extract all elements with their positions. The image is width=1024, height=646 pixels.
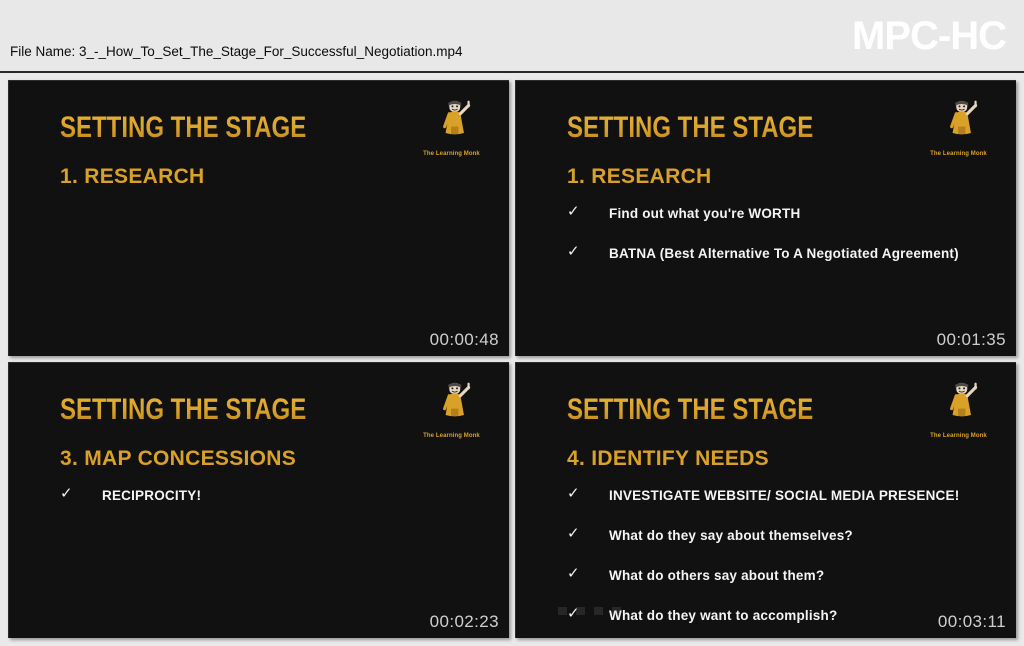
slide-bullet-item: ✓What do others say about them? (567, 567, 1001, 585)
video-thumbnail-1[interactable]: SETTING THE STAGE 1. RESEARCH The Learni… (8, 80, 509, 356)
file-name-label: File Name: 3_-_How_To_Set_The_Stage_For_… (10, 43, 463, 61)
slide-subtitle: 3. MAP CONCESSIONS (60, 447, 296, 471)
slide-bullet-list: ✓Find out what you're WORTH✓BATNA (Best … (567, 205, 1001, 285)
slide-subtitle: 1. RESEARCH (60, 165, 205, 189)
slide-bullet-item: ✓What do they say about themselves? (567, 527, 1001, 545)
slide-bullet-item: ✓RECIPROCITY! (60, 487, 494, 505)
app-logo-text: MPC-HC (852, 14, 1006, 59)
logo-caption: The Learning Monk (929, 433, 989, 439)
slide-bullet-item: ✓BATNA (Best Alternative To A Negotiated… (567, 245, 1001, 263)
file-info-header: File Name: 3_-_How_To_Set_The_Stage_For_… (0, 0, 1024, 73)
thumbnail-timestamp: 00:01:35 (937, 330, 1006, 350)
slide-bullet-item: ✓Find out what you're WORTH (567, 205, 1001, 223)
check-icon: ✓ (567, 244, 580, 260)
play-icon[interactable] (576, 607, 585, 615)
slide-title: SETTING THE STAGE (60, 111, 306, 145)
slide-title: SETTING THE STAGE (60, 393, 306, 427)
slide-bullet-item: ✓INVESTIGATE WEBSITE/ SOCIAL MEDIA PRESE… (567, 487, 1001, 505)
previous-icon[interactable] (558, 607, 567, 615)
check-icon: ✓ (567, 486, 580, 502)
logo-caption: The Learning Monk (929, 151, 989, 157)
stop-icon[interactable] (594, 607, 603, 615)
check-icon: ✓ (567, 526, 580, 542)
slide-bullet-list: ✓RECIPROCITY! (60, 487, 494, 527)
video-thumbnail-2[interactable]: SETTING THE STAGE 1. RESEARCH ✓Find out … (515, 80, 1016, 356)
video-thumbnail-4[interactable]: SETTING THE STAGE 4. IDENTIFY NEEDS ✓INV… (515, 362, 1016, 638)
slide-title: SETTING THE STAGE (567, 111, 813, 145)
slide-bullet-label: What do they want to accomplish? (609, 608, 837, 624)
slide-bullet-label: What do others say about them? (609, 568, 824, 584)
slide-bullet-label: BATNA (Best Alternative To A Negotiated … (609, 246, 959, 262)
slide-subtitle: 1. RESEARCH (567, 165, 712, 189)
monk-raised-hand-icon: The Learning Monk (422, 99, 482, 157)
slide-bullet-label: RECIPROCITY! (102, 488, 201, 504)
logo-caption: The Learning Monk (422, 151, 482, 157)
monk-raised-hand-icon: The Learning Monk (929, 381, 989, 439)
check-icon: ✓ (567, 566, 580, 582)
video-thumbnail-3[interactable]: SETTING THE STAGE 3. MAP CONCESSIONS ✓RE… (8, 362, 509, 638)
thumbnail-timestamp: 00:03:11 (938, 612, 1006, 632)
monk-raised-hand-icon: The Learning Monk (422, 381, 482, 439)
slide-title: SETTING THE STAGE (567, 393, 813, 427)
monk-raised-hand-icon: The Learning Monk (929, 99, 989, 157)
next-icon[interactable] (612, 607, 621, 615)
slide-bullet-label: INVESTIGATE WEBSITE/ SOCIAL MEDIA PRESEN… (609, 488, 959, 504)
thumbnail-timestamp: 00:00:48 (430, 330, 499, 350)
slide-bullet-list: ✓INVESTIGATE WEBSITE/ SOCIAL MEDIA PRESE… (567, 487, 1001, 638)
slide-bullet-label: What do they say about themselves? (609, 528, 853, 544)
slide-bullet-item: ✓What do they want to accomplish? (567, 607, 1001, 625)
media-controls-overlay[interactable] (558, 607, 621, 615)
thumbnail-timestamp: 00:02:23 (430, 612, 499, 632)
logo-caption: The Learning Monk (422, 433, 482, 439)
check-icon: ✓ (567, 204, 580, 220)
slide-subtitle: 4. IDENTIFY NEEDS (567, 447, 769, 471)
check-icon: ✓ (60, 486, 73, 502)
thumbnail-grid: SETTING THE STAGE 1. RESEARCH The Learni… (8, 80, 1016, 638)
slide-bullet-label: Find out what you're WORTH (609, 206, 800, 222)
